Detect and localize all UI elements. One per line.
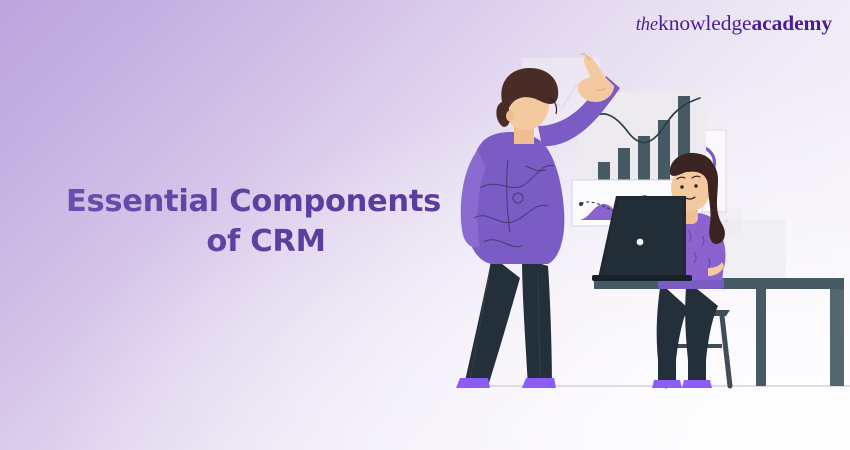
banner-root: theknowledgeacademy Essential Components… — [0, 0, 850, 450]
sweater — [466, 132, 565, 264]
shoe-left — [652, 380, 682, 388]
page-title-line2: of CRM — [66, 222, 466, 262]
shoe-right — [682, 380, 712, 388]
page-title-line1: Essential Components — [66, 184, 441, 219]
hero-illustration — [430, 20, 850, 450]
page-title: Essential Components of CRM — [66, 182, 466, 263]
desk-icon — [594, 278, 844, 386]
shoe-right — [522, 378, 556, 388]
illustration-svg — [430, 20, 850, 450]
laptop-logo — [637, 239, 644, 246]
shoe-left — [456, 378, 490, 388]
bar-4 — [658, 120, 670, 188]
